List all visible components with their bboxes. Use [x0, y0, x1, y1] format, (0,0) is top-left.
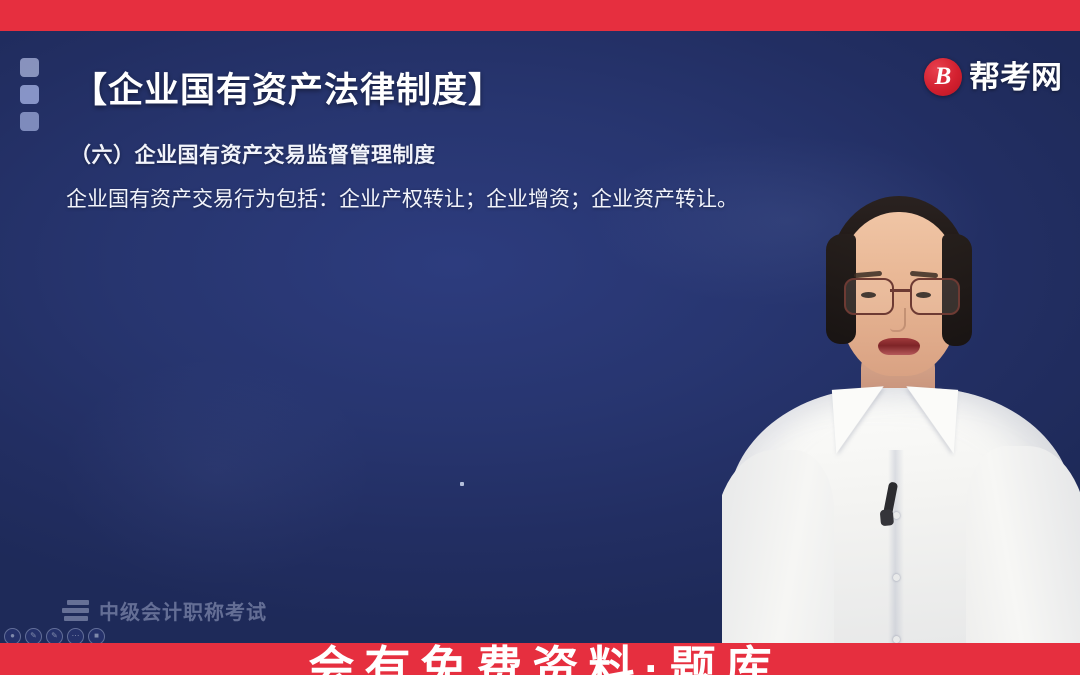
book-icon [62, 600, 89, 621]
bottom-red-banner: 会有免费资料·题库 [0, 643, 1080, 675]
presenter-right-arm [966, 446, 1080, 643]
presenter-collar-left [832, 386, 888, 453]
presenter-mouth [878, 338, 920, 355]
glasses-lens-left [844, 278, 894, 315]
promo-banner-text: 会有免费资料·题库 [0, 645, 1080, 675]
presenter-shirt-button-2 [893, 574, 900, 581]
presenter-figure [722, 150, 1080, 643]
slide-body-paragraph: 企业国有资产交易行为包括：企业产权转让；企业增资；企业资产转让。 [66, 181, 746, 220]
brand-logo: B 帮考网 [924, 58, 1062, 96]
watermark-label: 中级会计职称考试 [99, 596, 267, 625]
presenter-shirt-button-1 [893, 512, 900, 519]
brand-badge-icon: B [924, 58, 962, 96]
glasses-lens-right [910, 278, 960, 315]
decorative-square-2 [20, 85, 39, 104]
course-watermark: 中级会计职称考试 [62, 596, 267, 625]
brand-badge-letter: B [924, 58, 962, 96]
presenter-nose [890, 308, 906, 332]
video-player-frame: 【企业国有资产法律制度】 （六）企业国有资产交易监督管理制度 企业国有资产交易行… [0, 0, 1080, 675]
presenter-left-arm [722, 450, 834, 643]
glasses-icon [842, 278, 960, 312]
decorative-square-1 [20, 58, 39, 77]
glasses-bridge [890, 289, 910, 292]
presenter-shirt-placket [888, 450, 904, 643]
decorative-square-3 [20, 112, 39, 131]
slide-body: （六）企业国有资产交易监督管理制度 企业国有资产交易行为包括：企业产权转让；企业… [66, 140, 746, 219]
presenter-collar-right [902, 386, 958, 453]
decorative-squares [20, 58, 39, 131]
top-red-banner [0, 0, 1080, 31]
slide-sub-heading: （六）企业国有资产交易监督管理制度 [70, 140, 746, 172]
slide-title: 【企业国有资产法律制度】 [72, 62, 504, 113]
presenter-shirt-button-3 [893, 636, 900, 643]
brand-name: 帮考网 [969, 62, 1062, 93]
background-speck [460, 482, 464, 486]
